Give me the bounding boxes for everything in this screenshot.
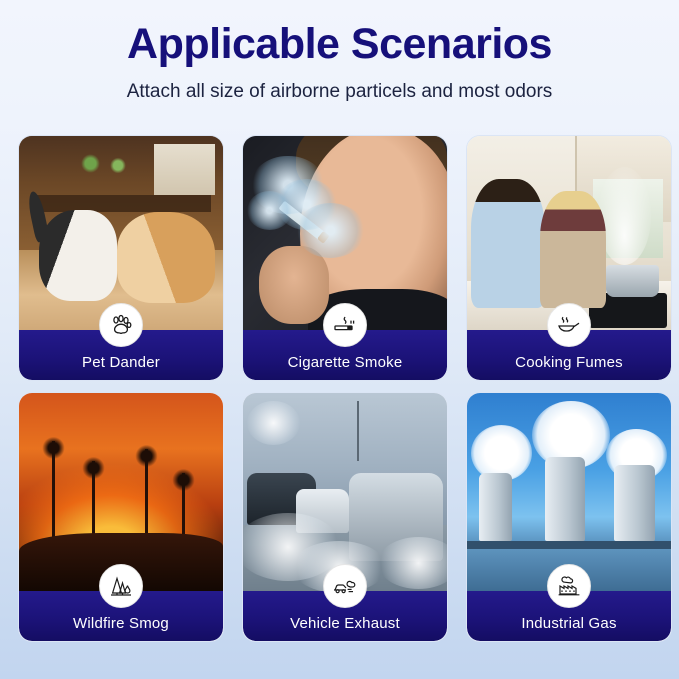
scenario-card-cooking-fumes[interactable]: Cooking Fumes <box>466 135 672 381</box>
cooking-pan-icon <box>547 303 591 347</box>
scenario-label: Wildfire Smog <box>73 615 169 632</box>
paw-print-icon <box>99 303 143 347</box>
scenario-card-wildfire-smog[interactable]: Wildfire Smog <box>18 392 224 642</box>
scenario-label: Industrial Gas <box>521 615 616 632</box>
cigarette-icon <box>323 303 367 347</box>
applicable-scenarios-page: Applicable Scenarios Attach all size of … <box>0 0 679 679</box>
scenario-image-vehicle-exhaust <box>243 393 447 593</box>
scenario-grid: Pet Dander <box>18 135 662 642</box>
scenario-card-industrial-gas[interactable]: Industrial Gas <box>466 392 672 642</box>
page-title: Applicable Scenarios <box>0 22 679 67</box>
scenario-card-vehicle-exhaust[interactable]: Vehicle Exhaust <box>242 392 448 642</box>
scenario-label: Vehicle Exhaust <box>290 615 400 632</box>
car-exhaust-icon <box>323 564 367 608</box>
scenario-image-industrial-gas <box>467 393 671 593</box>
scenario-label: Cigarette Smoke <box>288 354 403 371</box>
scenario-card-cigarette-smoke[interactable]: Cigarette Smoke <box>242 135 448 381</box>
burning-trees-icon <box>99 564 143 608</box>
scenario-label: Cooking Fumes <box>515 354 623 371</box>
scenario-image-wildfire-smog <box>19 393 223 593</box>
factory-icon <box>547 564 591 608</box>
page-header: Applicable Scenarios Attach all size of … <box>0 0 679 103</box>
scenario-card-pet-dander[interactable]: Pet Dander <box>18 135 224 381</box>
page-subtitle: Attach all size of airborne particels an… <box>0 81 679 103</box>
scenario-label: Pet Dander <box>82 354 160 371</box>
